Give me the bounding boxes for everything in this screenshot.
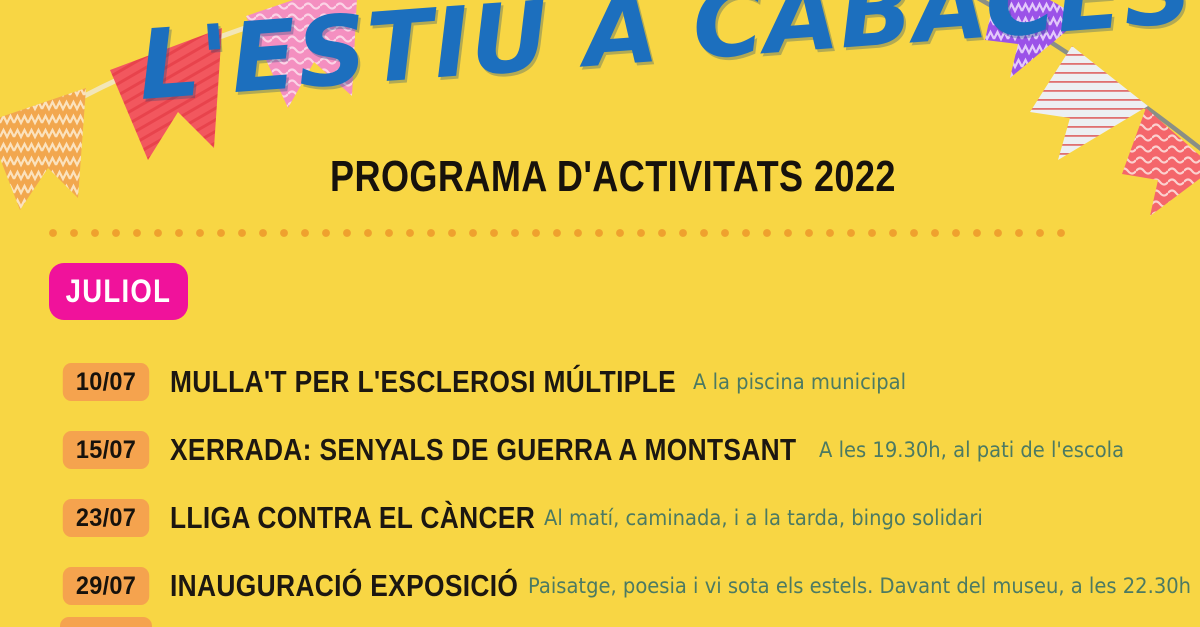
month-badge-label: JULIOL [66, 273, 172, 310]
event-description: A les 19.30h, al pati de l'escola [819, 438, 1124, 462]
event-date-badge: 10/07 [63, 363, 149, 401]
poster-canvas: L'ESTIU A CABACÉS PROGRAMA D'ACTIVITATS … [0, 0, 1200, 627]
event-description: A la piscina municipal [693, 370, 906, 394]
event-title: MULLA'T PER L'ESCLEROSI MÚLTIPLE [170, 364, 676, 400]
page-subtitle: PROGRAMA D'ACTIVITATS 2022 [330, 152, 896, 202]
title-block: L'ESTIU A CABACÉS PROGRAMA D'ACTIVITATS … [0, 0, 1200, 215]
event-date-badge: 29/07 [63, 567, 149, 605]
event-date-badge: 23/07 [63, 499, 149, 537]
event-title: INAUGURACIÓ EXPOSICIÓ [170, 568, 518, 604]
event-row: 15/07 XERRADA: SENYALS DE GUERRA A MONTS… [0, 416, 1200, 484]
page-title: L'ESTIU A CABACÉS [135, 0, 1042, 148]
event-row: 23/07 LLIGA CONTRA EL CÀNCER Al matí, ca… [0, 484, 1200, 552]
event-date-badge-partial [60, 617, 152, 627]
month-badge-juliol: JULIOL [49, 263, 188, 320]
event-description: Al matí, caminada, i a la tarda, bingo s… [544, 506, 983, 530]
event-list: 10/07 MULLA'T PER L'ESCLEROSI MÚLTIPLE A… [0, 348, 1200, 620]
event-description: Paisatge, poesia i vi sota els estels. D… [528, 574, 1191, 598]
event-date-badge: 15/07 [63, 431, 149, 469]
event-row: 29/07 INAUGURACIÓ EXPOSICIÓ Paisatge, po… [0, 552, 1200, 620]
event-row: 10/07 MULLA'T PER L'ESCLEROSI MÚLTIPLE A… [0, 348, 1200, 416]
dotted-divider [48, 228, 1076, 238]
event-title: LLIGA CONTRA EL CÀNCER [170, 500, 535, 536]
event-title: XERRADA: SENYALS DE GUERRA A MONTSANT [170, 432, 796, 468]
